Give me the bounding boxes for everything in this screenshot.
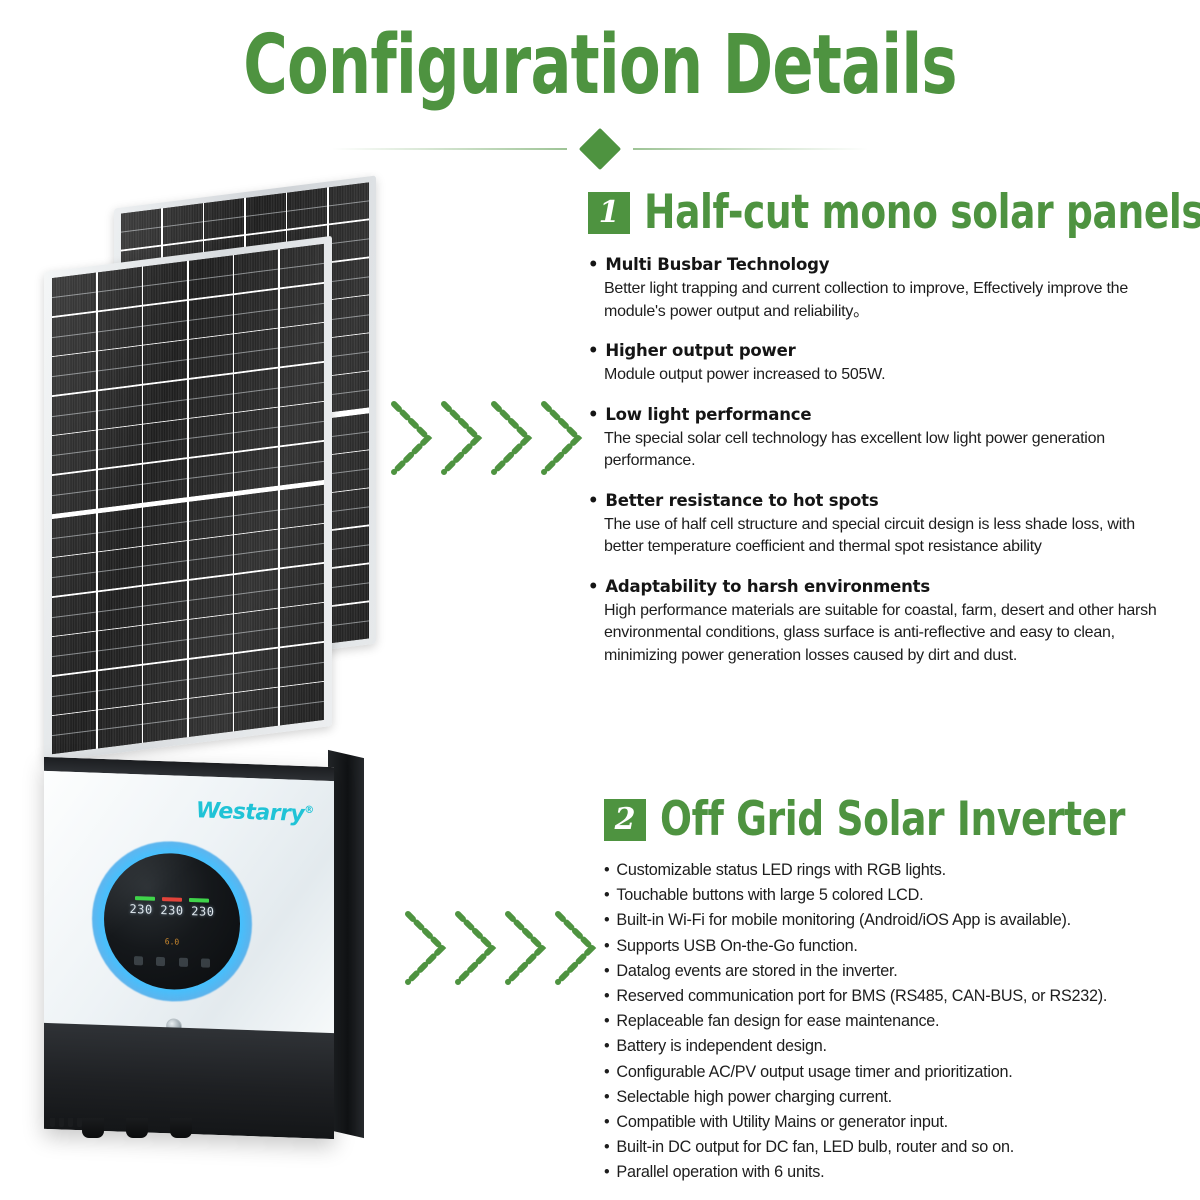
solar-cell [189, 413, 233, 457]
divider-line-right [633, 148, 868, 150]
solar-cell [52, 553, 96, 597]
spec-item: •Datalog events are stored in the invert… [604, 959, 1184, 984]
spec-text: Battery is independent design. [616, 1034, 826, 1059]
chevron-arrow-group-1 [390, 398, 584, 478]
solar-cell [329, 258, 369, 299]
brand-logo: Westarry® [196, 798, 314, 827]
solar-cell [98, 464, 142, 508]
configuration-details-page: Configuration Details [0, 0, 1200, 1200]
solar-cell [98, 425, 142, 469]
solar-cell [280, 563, 324, 607]
section-number-badge: 1 [588, 192, 630, 234]
brand-name: Westarry [196, 798, 304, 827]
feature-title-row: • Better resistance to hot spots [588, 490, 1168, 512]
fin [68, 1118, 73, 1127]
status-bar-green [135, 896, 155, 901]
spec-item: •Built-in Wi-Fi for mobile monitoring (A… [604, 908, 1184, 933]
section-half-cut-mono-solar-panels: 1 Half-cut mono solar panels • Multi Bus… [588, 188, 1168, 684]
solar-cell [329, 220, 369, 261]
solar-cell [143, 660, 187, 704]
bullet-icon: • [604, 908, 609, 933]
bullet-icon: • [604, 1135, 609, 1160]
bullet-icon: • [604, 984, 609, 1009]
spec-item: •Customizable status LED rings with RGB … [604, 858, 1184, 883]
solar-cell [121, 209, 161, 250]
bullet-icon: • [604, 1060, 609, 1085]
solar-cell [98, 385, 142, 429]
solar-cell [234, 368, 278, 412]
spec-text: Selectable high power charging current. [616, 1085, 892, 1110]
lcd-screen: 230 230 230 [128, 896, 216, 931]
cable-gland [126, 1118, 148, 1138]
solar-cell [143, 502, 187, 546]
solar-cell [329, 488, 369, 529]
divider-line-left [332, 148, 567, 150]
feature-title: Higher output power [605, 340, 795, 362]
solar-cell [329, 413, 369, 454]
touch-button-escape[interactable] [134, 956, 143, 965]
solar-panel-image [36, 192, 386, 702]
cell-half-bottom [52, 484, 324, 754]
section-2-heading: 2 Off Grid Solar Inverter [604, 795, 1184, 845]
solar-cell [280, 484, 324, 528]
feature-body: The special solar cell technology has ex… [588, 428, 1168, 473]
solar-cell [52, 592, 96, 636]
spec-item: •Configurable AC/PV output usage timer a… [604, 1060, 1184, 1085]
bullet-icon: • [604, 1034, 609, 1059]
inverter-image: Westarry® 230 230 230 6.0 [36, 752, 396, 1152]
solar-cell [329, 451, 369, 492]
feature-title: Low light performance [605, 404, 811, 426]
spec-item: •Supports USB On-the-Go function. [604, 934, 1184, 959]
bullet-icon: • [588, 340, 598, 362]
spec-item: •Replaceable fan design for ease mainten… [604, 1009, 1184, 1034]
spec-item: •Built-in DC output for DC fan, LED bulb… [604, 1135, 1184, 1160]
solar-cell [329, 182, 369, 223]
solar-cell [329, 296, 369, 337]
touch-button-row[interactable] [134, 956, 210, 968]
chevron-arrow-group-2 [404, 908, 598, 988]
cable-gland [82, 1118, 104, 1138]
feature-item: • Higher output power Module output powe… [588, 340, 1168, 387]
solar-cell [280, 524, 324, 568]
inverter-front-body: Westarry® 230 230 230 6.0 [44, 757, 334, 1139]
solar-cell [98, 507, 142, 551]
section-1-heading: 1 Half-cut mono solar panels [588, 188, 1168, 238]
header-divider [0, 128, 1200, 170]
bullet-icon: • [604, 934, 609, 959]
solar-cell [52, 711, 96, 755]
chevron-right-icon [390, 398, 434, 478]
solar-cell [143, 380, 187, 424]
solar-cell [234, 688, 278, 732]
solar-cell [52, 632, 96, 676]
solar-cell [98, 626, 142, 670]
bullet-icon: • [604, 1160, 609, 1185]
solar-panel-front [44, 236, 332, 762]
solar-cell [98, 665, 142, 709]
solar-cell [52, 273, 96, 317]
solar-cell [143, 459, 187, 503]
bullet-icon: • [588, 254, 598, 276]
solar-cell [234, 447, 278, 491]
feature-body: Module output power increased to 505W. [588, 364, 1168, 387]
solar-cell [280, 323, 324, 367]
solar-cell [52, 470, 96, 514]
solar-cell [52, 352, 96, 396]
spec-text: Parallel operation with 6 units. [616, 1160, 824, 1185]
spec-item: •Battery is independent design. [604, 1034, 1184, 1059]
chevron-right-icon [554, 908, 598, 988]
solar-cell [234, 289, 278, 333]
solar-cell [189, 334, 233, 378]
solar-cell [189, 496, 233, 540]
spec-text: Touchable buttons with large 5 colored L… [616, 883, 923, 908]
solar-cell [234, 408, 278, 452]
solar-cell [98, 705, 142, 749]
bullet-icon: • [604, 1110, 609, 1135]
bullet-icon: • [604, 858, 609, 883]
solar-cell-grid-front [52, 244, 324, 754]
solar-cell [52, 431, 96, 475]
status-bar-green [189, 898, 209, 903]
solar-cell [189, 255, 233, 299]
inverter-cable-glands [82, 1118, 192, 1138]
solar-cell [280, 362, 324, 406]
chevron-right-icon [490, 398, 534, 478]
solar-cell [189, 693, 233, 737]
spec-text: Supports USB On-the-Go function. [616, 934, 857, 959]
registered-mark-icon: ® [304, 805, 314, 816]
feature-title-row: • Multi Busbar Technology [588, 254, 1168, 276]
solar-cell [234, 530, 278, 574]
spec-text: Built-in DC output for DC fan, LED bulb,… [616, 1135, 1014, 1160]
solar-cell [143, 541, 187, 585]
solar-cell [329, 526, 369, 567]
section-off-grid-solar-inverter: 2 Off Grid Solar Inverter •Customizable … [604, 795, 1184, 1186]
inverter-face: Westarry® 230 230 230 6.0 [44, 771, 334, 1033]
solar-cell [234, 569, 278, 613]
bullet-icon: • [604, 959, 609, 984]
solar-cell [246, 193, 286, 234]
feature-title: Better resistance to hot spots [605, 490, 878, 512]
chevron-right-icon [454, 908, 498, 988]
bullet-icon: • [588, 490, 598, 512]
chevron-right-icon [540, 398, 584, 478]
status-bar-red [162, 897, 182, 902]
feature-body: Better light trapping and current collec… [588, 278, 1168, 323]
chevron-right-icon [440, 398, 484, 478]
solar-cell [234, 250, 278, 294]
solar-cell [143, 301, 187, 345]
solar-cell [280, 682, 324, 726]
feature-item: • Adaptability to harsh environments Hig… [588, 576, 1168, 668]
solar-cell [98, 306, 142, 350]
section-title: Half-cut mono solar panels [644, 188, 1200, 238]
feature-title: Multi Busbar Technology [605, 254, 829, 276]
solar-cell [143, 261, 187, 305]
bullet-icon: • [604, 1009, 609, 1034]
cable-gland [170, 1118, 192, 1138]
touch-button-enter[interactable] [201, 958, 210, 967]
solar-cell [143, 419, 187, 463]
spec-text: Datalog events are stored in the inverte… [616, 959, 897, 984]
solar-cell [143, 620, 187, 664]
touch-button-up[interactable] [156, 957, 165, 966]
solar-cell [280, 441, 324, 485]
bullet-icon: • [604, 1085, 609, 1110]
solar-cell [189, 374, 233, 418]
spec-item: •Touchable buttons with large 5 colored … [604, 883, 1184, 908]
solar-cell [189, 575, 233, 619]
spec-text: Built-in Wi-Fi for mobile monitoring (An… [616, 908, 1070, 933]
solar-cell [234, 490, 278, 534]
solar-cell [280, 402, 324, 446]
solar-cell [52, 312, 96, 356]
solar-cell [189, 654, 233, 698]
solar-cell [189, 614, 233, 658]
spec-text: Compatible with Utility Mains or generat… [616, 1110, 947, 1135]
solar-cell [98, 267, 142, 311]
feature-item: • Better resistance to hot spots The use… [588, 490, 1168, 559]
solar-cell [52, 513, 96, 557]
feature-title-row: • Low light performance [588, 404, 1168, 426]
spec-text: Reserved communication port for BMS (RS4… [616, 984, 1107, 1009]
solar-cell [98, 346, 142, 390]
solar-cell [234, 329, 278, 373]
feature-item: • Multi Busbar Technology Better light t… [588, 254, 1168, 323]
spec-item: •Compatible with Utility Mains or genera… [604, 1110, 1184, 1135]
section-title: Off Grid Solar Inverter [660, 795, 1125, 845]
solar-cell [189, 453, 233, 497]
spec-text: Customizable status LED rings with RGB l… [616, 858, 945, 883]
fin [59, 1118, 64, 1127]
solar-cell [280, 283, 324, 327]
spec-item: •Parallel operation with 6 units. [604, 1160, 1184, 1185]
solar-cell [143, 699, 187, 743]
solar-cell [280, 244, 324, 288]
solar-cell [280, 603, 324, 647]
feature-body: The use of half cell structure and speci… [588, 514, 1168, 559]
feature-body: High performance materials are suitable … [588, 600, 1168, 668]
solar-cell [329, 564, 369, 605]
feature-title: Adaptability to harsh environments [605, 576, 930, 598]
lcd-value: 230 230 230 [130, 902, 215, 919]
feature-list: • Multi Busbar Technology Better light t… [588, 254, 1168, 667]
solar-cell [287, 188, 327, 229]
solar-cell [204, 198, 244, 239]
solar-cell [329, 371, 369, 412]
solar-cell [280, 642, 324, 686]
bullet-icon: • [604, 883, 609, 908]
spec-list: •Customizable status LED rings with RGB … [604, 858, 1184, 1186]
solar-cell [143, 581, 187, 625]
fin [50, 1118, 55, 1127]
bullet-icon: • [588, 404, 598, 426]
solar-cell [98, 586, 142, 630]
feature-item: • Low light performance The special sola… [588, 404, 1168, 473]
solar-cell [52, 391, 96, 435]
page-title: Configuration Details [156, 18, 1044, 114]
feature-title-row: • Higher output power [588, 340, 1168, 362]
solar-cell [234, 648, 278, 692]
spec-text: Configurable AC/PV output usage timer an… [616, 1060, 1012, 1085]
solar-cell [143, 340, 187, 384]
feature-title-row: • Adaptability to harsh environments [588, 576, 1168, 598]
solar-cell [189, 295, 233, 339]
diamond-icon [579, 128, 621, 170]
page-header: Configuration Details [0, 0, 1200, 175]
bullet-icon: • [588, 576, 598, 598]
chevron-right-icon [504, 908, 548, 988]
cell-half-top [52, 244, 324, 514]
solar-cell [98, 547, 142, 591]
touch-button-down[interactable] [179, 958, 188, 967]
solar-cell [329, 602, 369, 643]
solar-cell [329, 334, 369, 375]
lcd-sub-value: 6.0 [165, 937, 179, 947]
chevron-right-icon [404, 908, 448, 988]
solar-cell [163, 203, 203, 244]
spec-text: Replaceable fan design for ease maintena… [616, 1009, 939, 1034]
solar-cell [52, 671, 96, 715]
section-number-badge: 2 [604, 799, 646, 841]
solar-cell [234, 609, 278, 653]
spec-item: •Reserved communication port for BMS (RS… [604, 984, 1184, 1009]
spec-item: •Selectable high power charging current. [604, 1085, 1184, 1110]
solar-cell [189, 535, 233, 579]
